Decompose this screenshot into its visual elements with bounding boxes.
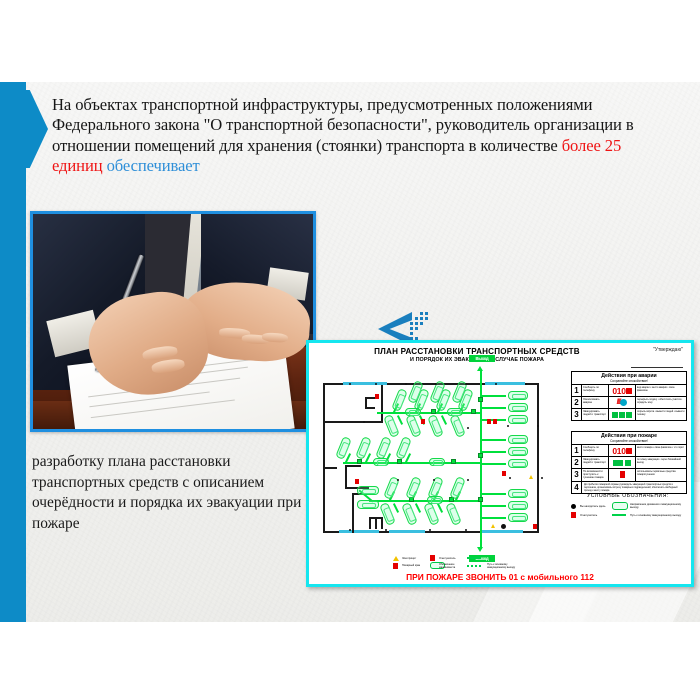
column-marker [541, 477, 543, 479]
legend-label: Путь к основному эвакуационному выходу [630, 514, 685, 517]
parking-space [508, 415, 528, 424]
gate-bottom-1 [339, 530, 379, 533]
column-marker [349, 383, 351, 385]
feeder-1g [441, 415, 447, 425]
branch-r6 [482, 463, 506, 465]
headline-text: На объектах транспортной инфраструктуры,… [52, 95, 674, 177]
row-number: 3 [572, 469, 582, 481]
partition-1 [381, 385, 383, 423]
partition-5 [345, 465, 361, 467]
column-marker [435, 383, 437, 385]
parking-space [508, 391, 528, 400]
partition-2 [323, 421, 383, 423]
legend-title: УСЛОВНЫЕ ОБОЗНАЧЕНИЯ: [571, 493, 685, 499]
legend-label: Огнетушитель [580, 514, 610, 517]
warning-triangle-icon [529, 475, 533, 479]
row-number: 1 [572, 385, 582, 396]
column-marker [397, 479, 399, 481]
minilegend-label: Путь к основному эвакуационному выходу [487, 563, 517, 569]
feeder-3g [437, 503, 443, 513]
node-9 [478, 397, 483, 402]
minilegend-label: Огнетушитель [439, 557, 465, 560]
black-dot-icon [571, 504, 576, 509]
slide-canvas: На объектах транспортной инфраструктуры,… [0, 82, 700, 622]
row-number: 2 [572, 397, 582, 408]
stair-rail-2 [375, 517, 377, 529]
table-row: 1 Сообщить по телефону 010 место пожара … [572, 445, 686, 457]
gate-bottom-3 [481, 530, 523, 533]
exit-arrow-up-icon [477, 366, 483, 371]
parking-space [508, 489, 528, 498]
parking-space [508, 403, 528, 412]
table-row: 3 По возможности приступить к тушению по… [572, 469, 686, 482]
row-symbol [609, 457, 636, 468]
column-marker [537, 425, 539, 427]
plan-mini-legend: Электрощит Огнетушитель Пожарный кран Об… [393, 555, 565, 569]
headline-part1: На объектах транспортной инфраструктуры,… [52, 95, 634, 155]
parking-space [508, 513, 528, 522]
table-subtitle: Сохраняйте спокойствие! [572, 439, 686, 443]
you-are-here-marker [501, 524, 506, 529]
node-2 [471, 409, 476, 414]
parking-space [357, 500, 379, 509]
dashed-line-icon [467, 565, 481, 567]
minilegend-label: Пожарный кран [402, 564, 428, 567]
column-marker [349, 529, 351, 531]
row-symbol [609, 409, 636, 420]
exit-sign-icon [626, 412, 632, 418]
column-marker [507, 425, 509, 427]
parking-space [447, 408, 463, 416]
fire-extinguisher-icon [421, 419, 425, 424]
plan-legend: УСЛОВНЫЕ ОБОЗНАЧЕНИЯ: Вы находитесь здес… [571, 493, 685, 518]
emergency-number: 010 [612, 446, 625, 456]
plan-footer-emergency-text: ПРИ ПОЖАРЕ ЗВОНИТЬ 01 с мобильного 112 [309, 572, 691, 582]
spine-3 [369, 500, 482, 502]
table-row: 2 Локализовать аварию //// перекрыть под… [572, 397, 686, 409]
partition-7 [352, 493, 354, 533]
node-3 [357, 459, 362, 464]
fire-crane-icon [393, 563, 398, 569]
row-desc: место пожара • свою фамилию • что горит [636, 445, 686, 456]
row-desc: открыть ворота • вывести людей • вывезти… [636, 409, 686, 420]
column-marker [525, 383, 527, 385]
column-marker [405, 383, 407, 385]
partition-3 [323, 467, 337, 469]
table-row: 4 До прибытия пожарной охраны руководить… [572, 482, 686, 493]
stair-rail-3 [381, 517, 383, 529]
node-4 [397, 459, 402, 464]
fire-extinguisher-icon [493, 419, 497, 424]
branch-r1 [482, 395, 506, 397]
column-marker [433, 479, 435, 481]
table-subtitle: Сохраняйте спокойствие! [572, 379, 686, 383]
parking-space [357, 486, 379, 495]
wall-right [537, 383, 539, 533]
green-line-icon [467, 557, 481, 559]
parking-space [508, 459, 528, 468]
column-marker [509, 477, 511, 479]
legend-label: Направление движения к эвакуационному вы… [630, 503, 685, 509]
parking-space [449, 476, 466, 500]
parking-space [508, 435, 528, 444]
branch-r8 [482, 505, 506, 507]
legend-grid: Вы находитесь здесь Направление движения… [571, 502, 685, 518]
table-header: Действия при аварии Сохраняйте спокойств… [572, 372, 686, 385]
branch-r4 [482, 439, 506, 441]
parking-space [373, 458, 389, 466]
fire-extinguisher-icon [620, 471, 625, 478]
parking-space [449, 414, 466, 438]
vehicle-route-icon [612, 502, 628, 510]
approval-label: "Утверждаю" [597, 347, 683, 353]
evacuation-plan-poster: ПЛАН РАССТАНОВКИ ТРАНСПОРТНЫХ СРЕДСТВ И … [306, 340, 694, 587]
fire-extinguisher-icon [533, 524, 537, 529]
fire-extinguisher-icon [375, 394, 379, 399]
exit-badge-top: Выход [469, 355, 495, 362]
parking-space [508, 501, 528, 510]
fire-extinguisher-icon [430, 555, 435, 561]
fire-extinguisher-icon [571, 512, 576, 518]
node-10 [478, 453, 483, 458]
column-marker [429, 529, 431, 531]
partition-4 [345, 465, 347, 489]
row-number: 4 [572, 482, 582, 493]
row-number: 1 [572, 445, 582, 456]
left-pointer-tab [0, 90, 48, 168]
parking-space [405, 408, 421, 416]
parking-space [508, 447, 528, 456]
spine-2 [343, 462, 482, 464]
gate-bottom-2 [389, 530, 425, 533]
row-text: По возможности приступить к тушению пожа… [582, 469, 609, 481]
wall-left [323, 383, 325, 533]
floor-plan-drawing: Выход Выход [319, 367, 567, 569]
feeder-1e [397, 415, 403, 425]
fire-extinguisher-icon [355, 479, 359, 484]
column-marker [363, 421, 365, 423]
row-symbol: //// [609, 397, 636, 408]
stair-rail-1 [369, 517, 371, 529]
row-symbol: 010 [609, 445, 636, 456]
column-marker [467, 479, 469, 481]
exit-arrow-down-icon [477, 547, 483, 552]
table-row: 2 Эвакуировать людей и транспорт по план… [572, 457, 686, 469]
table-header: Действия при пожаре Сохраняйте спокойств… [572, 432, 686, 445]
parking-space [429, 458, 445, 466]
row-number: 2 [572, 457, 582, 468]
column-marker [375, 383, 377, 385]
parking-space [427, 496, 443, 504]
warning-triangle-icon [491, 524, 495, 528]
branch-r9 [482, 517, 506, 519]
row-text: Сообщить по телефону [582, 385, 609, 396]
phone-icon [626, 388, 632, 394]
minilegend-label: Электрощит [402, 557, 428, 560]
column-marker [465, 383, 467, 385]
table-row: 3 Эвакуировать людей и транспорт открыть… [572, 409, 686, 420]
row-text: Эвакуировать людей и транспорт [582, 409, 609, 420]
fire-extinguisher-icon [502, 471, 506, 476]
node-1 [431, 409, 436, 414]
node-8 [478, 497, 483, 502]
minilegend-label: Обозначение машиноместа [439, 563, 465, 569]
row-symbol: 010 [609, 385, 636, 396]
instructions-table-accident: Действия при аварии Сохраняйте спокойств… [571, 371, 687, 421]
fire-extinguisher-icon [487, 419, 491, 424]
green-line-icon [612, 514, 626, 516]
feeder-3e [393, 503, 399, 513]
exit-sign-icon [613, 460, 623, 466]
column-marker [465, 529, 467, 531]
headline-highlight-blue: обеспечивает [107, 156, 200, 175]
row-text: Эвакуировать людей и транспорт [582, 457, 609, 468]
row-text: До прибытия пожарной охраны руководить э… [582, 482, 686, 493]
column-marker [467, 427, 469, 429]
branch-r5 [482, 451, 506, 453]
feeder-3f [415, 503, 421, 513]
row-desc: по плану эвакуации • через ближайший вых… [636, 457, 686, 468]
valve-icon [620, 399, 627, 406]
node-5 [451, 459, 456, 464]
row-text: Сообщить по телефону [582, 445, 609, 456]
partition-11 [365, 407, 375, 409]
exit-sign-icon [619, 412, 625, 418]
column-marker [385, 529, 387, 531]
row-desc: перекрыть подачу • обесточить участок • … [636, 397, 686, 408]
gate-top-2 [485, 382, 525, 385]
legend-label: Вы находитесь здесь [580, 505, 610, 508]
table-row: 1 Сообщить по телефону 010 вид аварии • … [572, 385, 686, 397]
phone-icon [626, 448, 632, 454]
column-marker [495, 383, 497, 385]
row-number: 3 [572, 409, 582, 420]
branch-r2 [482, 407, 506, 409]
emergency-number: 010 [612, 386, 625, 396]
exit-sign-icon [612, 412, 618, 418]
row-desc: использовать первичные средства пожароту… [636, 469, 686, 481]
warning-triangle-icon [393, 556, 399, 561]
parking-space [445, 502, 462, 526]
row-desc: вид аварии • место аварии • свою фамилию [636, 385, 686, 396]
exit-sign-icon [625, 460, 631, 466]
subtext-block: разработку плана расстановки транспортны… [32, 452, 302, 534]
branch-r7 [482, 493, 506, 495]
parking-space [405, 476, 422, 500]
row-symbol [609, 469, 636, 481]
instructions-table-fire: Действия при пожаре Сохраняйте спокойств… [571, 431, 687, 494]
row-text: Локализовать аварию [582, 397, 609, 408]
photo-signing-document [30, 211, 316, 432]
